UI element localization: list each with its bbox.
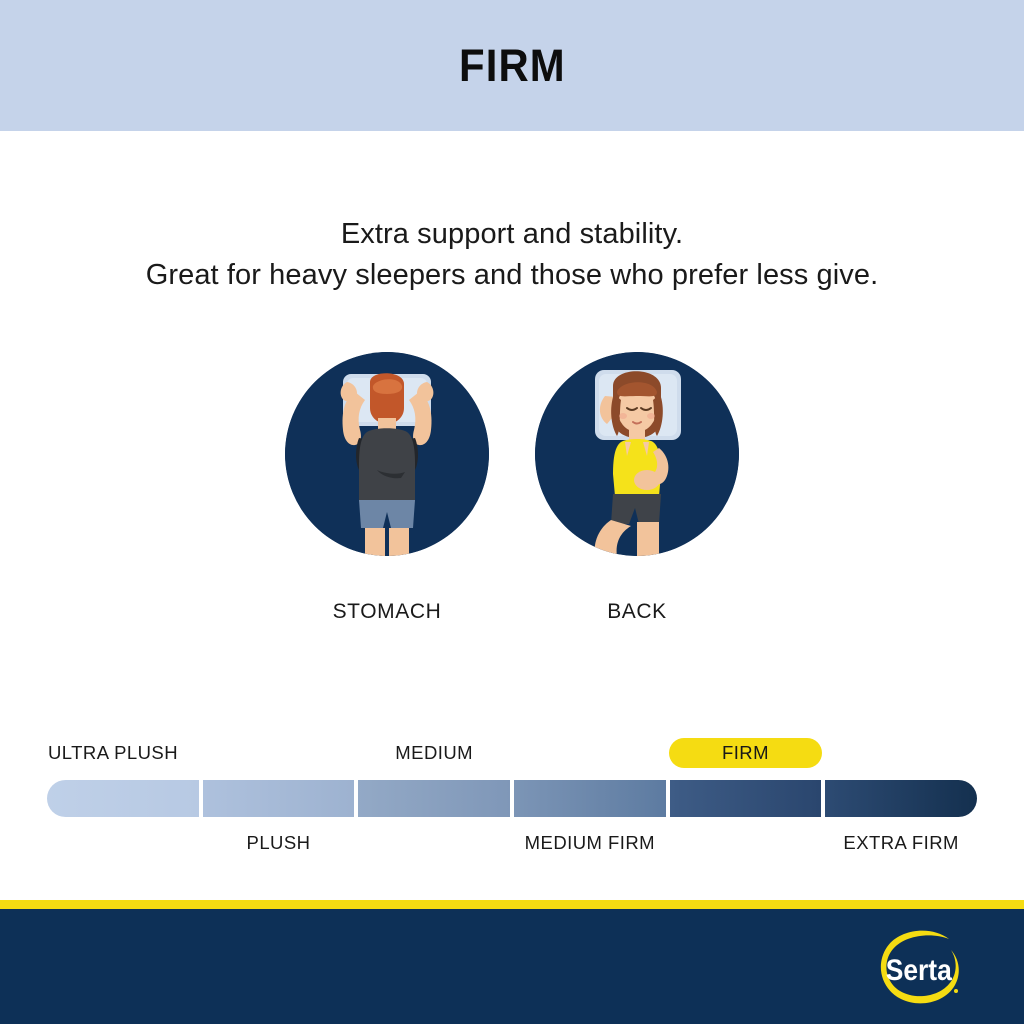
- footer-accent-stripe: [0, 900, 1024, 909]
- firmness-scale-labels-bottom: PLUSHMEDIUM FIRMEXTRA FIRM: [47, 828, 977, 858]
- firmness-label: EXTRA FIRM: [843, 828, 959, 858]
- firmness-label: MEDIUM: [395, 738, 473, 768]
- firmness-segment[interactable]: [47, 780, 199, 817]
- sleep-position-label: BACK: [607, 600, 667, 624]
- description-text: Extra support and stability. Great for h…: [0, 214, 1024, 296]
- back-sleeper-circle: [535, 352, 739, 556]
- sleep-position-back: BACK: [535, 352, 739, 624]
- firmness-segment[interactable]: [358, 780, 510, 817]
- firmness-label: MEDIUM FIRM: [525, 828, 655, 858]
- sleep-position-stomach: STOMACH: [285, 352, 489, 624]
- sleep-position-label: STOMACH: [333, 600, 442, 624]
- firmness-segment[interactable]: [670, 780, 822, 817]
- description-line-1: Extra support and stability.: [0, 214, 1024, 255]
- firmness-scale-labels-top: ULTRA PLUSHMEDIUMFIRM: [47, 738, 977, 768]
- firmness-segment[interactable]: [203, 780, 355, 817]
- firmness-scale-bar[interactable]: [47, 780, 977, 817]
- person-sleeping-on-stomach-icon: [285, 352, 489, 556]
- serta-logo: Serta: [873, 927, 969, 1007]
- person-sleeping-on-back-icon: [535, 352, 739, 556]
- firmness-label: ULTRA PLUSH: [48, 738, 178, 768]
- firmness-segment[interactable]: [825, 780, 977, 817]
- firmness-label-selected: FIRM: [669, 738, 823, 768]
- stomach-sleeper-circle: [285, 352, 489, 556]
- firmness-segment[interactable]: [514, 780, 666, 817]
- description-line-2: Great for heavy sleepers and those who p…: [0, 255, 1024, 296]
- sleep-positions-group: STOMACH: [0, 352, 1024, 624]
- firmness-scale: ULTRA PLUSHMEDIUMFIRM PLUSHMEDIUM FIRMEX…: [47, 738, 977, 860]
- serta-wordmark: Serta: [886, 952, 952, 986]
- header-band: FIRM: [0, 0, 1024, 131]
- page-title: FIRM: [459, 40, 566, 92]
- serta-oval-logo-icon: Serta: [873, 927, 969, 1007]
- firmness-label: PLUSH: [247, 828, 311, 858]
- footer-band: Serta: [0, 909, 1024, 1024]
